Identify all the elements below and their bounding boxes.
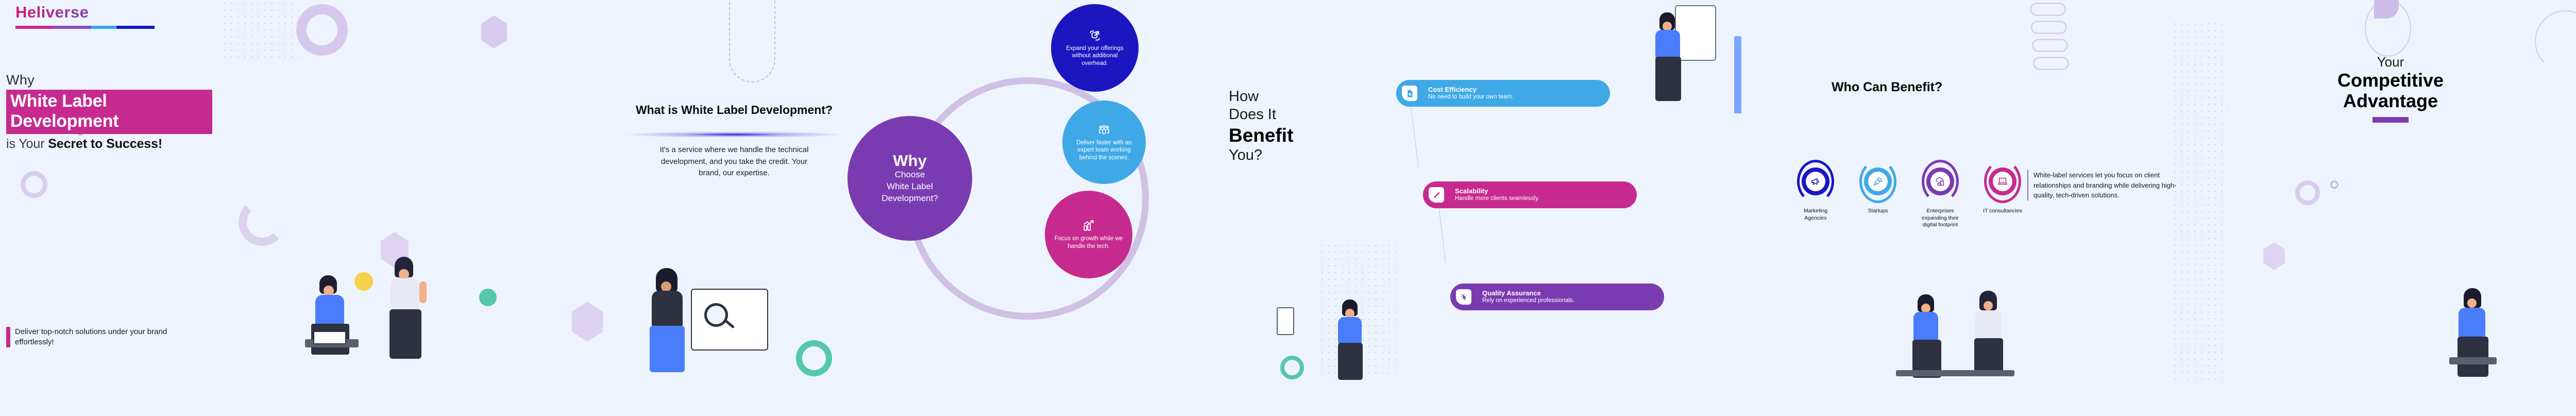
accent-bar: [6, 327, 10, 347]
brand-rule: [15, 26, 155, 29]
dot-grid-decor: [2172, 21, 2228, 381]
definition-title: What is White Label Development?: [636, 103, 833, 117]
audience-item-marketing-agencies[interactable]: Marketing Agencies: [1793, 160, 1838, 229]
headline-line-1: Competitive: [2246, 70, 2535, 91]
pill-decor: [2033, 57, 2069, 70]
expand-arrow-icon: [1088, 29, 1101, 42]
hexagon-decor: [479, 15, 509, 48]
benefit-bubble-expand[interactable]: Expand your offerings without additional…: [1051, 4, 1139, 92]
pill-badge: [1396, 80, 1423, 107]
pill-sub: Rely on experienced professionals.: [1482, 297, 1574, 304]
brand-wordmark: Heliverse: [15, 3, 155, 22]
intro-footnote: Deliver top-notch solutions under your b…: [6, 327, 176, 347]
who-benefit-note-text: White-label services let you focus on cl…: [2033, 170, 2192, 201]
accent-bar: [2027, 170, 2028, 201]
pill-badge: [1450, 284, 1477, 310]
illustration-card: [1277, 307, 1294, 335]
dashed-shape-decor: [729, 0, 775, 82]
who-benefit-list: Marketing Agencies Startups: [1793, 160, 2025, 229]
headline-line-2: Does It: [1229, 106, 1383, 124]
bubble-text: Focus on growth while we handle the tech…: [1053, 235, 1124, 250]
pill-text: Quality Assurance Rely on experienced pr…: [1482, 290, 1574, 304]
pencil-icon: [1734, 36, 1741, 113]
brush-icon: [1432, 191, 1441, 199]
magnifier-icon: [704, 303, 728, 327]
connector-line: [1411, 106, 1419, 167]
intro-tail: is Your Secret to Success!: [6, 137, 212, 152]
pill-text: Cost Efficiency No need to build your ow…: [1428, 86, 1514, 101]
ring-decor-small: [2295, 180, 2320, 205]
panel-competitive-advantage: Your Competitive Advantage: [2246, 0, 2535, 416]
cursor-click-icon: [1460, 293, 1468, 302]
pill-decor: [2032, 39, 2068, 52]
pill-title: Scalability: [1455, 188, 1539, 195]
benefit-pill-cost-efficiency[interactable]: Cost Efficiency No need to build your ow…: [1396, 80, 1610, 107]
intro-tail-light: is Your: [6, 137, 44, 151]
bubble-text: Deliver faster with an expert team worki…: [1071, 139, 1138, 161]
benefit-bubble-faster[interactable]: Deliver faster with an expert team worki…: [1062, 101, 1146, 184]
intro-tail-bold: Secret to Success!: [48, 137, 162, 151]
pill-sub: No need to build your own team.: [1428, 94, 1514, 101]
intro-footnote-text: Deliver top-notch solutions under your b…: [15, 327, 176, 347]
ring-decor: [2365, 0, 2411, 57]
dot-decor: [706, 312, 714, 320]
audience-label: IT consultancies: [1983, 208, 2022, 215]
teal-dot-decor: [479, 289, 497, 306]
audience-item-it-consultancies[interactable]: IT consultancies: [1980, 160, 2025, 229]
ring-decor-small: [21, 171, 47, 198]
audience-item-enterprises[interactable]: Enterprises expanding their digital foot…: [1918, 160, 1963, 229]
headline-line-3: Benefit: [1229, 124, 1383, 147]
intro-eyebrow: Why: [6, 72, 212, 88]
headline-underline: [2372, 117, 2409, 123]
pill-title: Quality Assurance: [1482, 290, 1574, 297]
ring-decor: [296, 4, 348, 56]
who-benefit-note: White-label services let you focus on cl…: [2027, 170, 2192, 201]
dot-grid-decor: [222, 0, 299, 62]
headline-line-2: Advantage: [2246, 91, 2535, 111]
title-glow-decor: [623, 131, 845, 138]
panel-why-choose: Why Choose White Label Development? Expa…: [845, 0, 1216, 416]
benefit-bubble-growth[interactable]: Focus on growth while we handle the tech…: [1045, 191, 1132, 278]
why-choose-core: Why Choose White Label Development?: [848, 116, 972, 241]
how-benefit-headline: How Does It Benefit You?: [1229, 88, 1383, 165]
pill-badge: [1423, 181, 1450, 208]
definition-body: It's a service where we handle the techn…: [649, 144, 819, 179]
pill-sub: Handle more clients seamlessly.: [1455, 195, 1539, 202]
growth-chart-icon: [1082, 219, 1095, 232]
connector-line: [1438, 206, 1446, 262]
competitive-headline: Your Competitive Advantage: [2246, 54, 2535, 123]
pill-title: Cost Efficiency: [1428, 86, 1514, 94]
benefit-pill-quality-assurance[interactable]: Quality Assurance Rely on experienced pr…: [1450, 284, 1664, 310]
benefit-pill-scalability[interactable]: Scalability Handle more clients seamless…: [1423, 181, 1637, 208]
panel-who-can-benefit: Who Can Benefit? Marketing Agencies: [1638, 0, 2246, 416]
infographic-canvas: Heliverse Why White Label Development is…: [0, 0, 2576, 416]
pill-text: Scalability Handle more clients seamless…: [1455, 188, 1539, 202]
success-story-title: A Success Story: [2535, 4, 2576, 20]
illustration-search-panel: [691, 289, 768, 351]
audience-label: Enterprises expanding their digital foot…: [1918, 208, 1963, 229]
headline-line-4: You?: [1229, 146, 1383, 164]
intro-highlight: White Label Development: [6, 90, 212, 134]
panel-how-benefit: How Does It Benefit You? Cost Efficiency…: [1216, 0, 1638, 416]
pill-decor: [2031, 21, 2067, 34]
audience-label: Marketing Agencies: [1793, 208, 1838, 222]
arc-decor: [239, 198, 286, 246]
lightbulb-icon: [354, 272, 373, 291]
headline-eyebrow: Your: [2246, 54, 2535, 70]
audience-label: Startups: [1868, 208, 1888, 215]
tiny-ring-decor: [2330, 180, 2338, 189]
audience-item-startups[interactable]: Startups: [1855, 160, 1901, 229]
who-benefit-title: Who Can Benefit?: [1832, 80, 1942, 95]
panel-success-story: A Success Story We helped [Client Name] …: [2535, 0, 2576, 416]
panel-intro: Heliverse Why White Label Development is…: [0, 0, 554, 416]
headline-line-1: How: [1229, 88, 1383, 106]
magnifier-handle-icon: [724, 320, 735, 329]
logo-top-left: Heliverse: [15, 3, 155, 29]
core-line4: Development?: [882, 193, 938, 204]
bubble-text: Expand your offerings without additional…: [1059, 45, 1130, 67]
hexagon-decor: [569, 302, 605, 342]
intro-headline: Why White Label Development is Your Secr…: [6, 72, 212, 152]
teal-ring-decor: [796, 340, 832, 376]
document-search-icon: [1405, 89, 1414, 98]
team-icon: [1097, 123, 1111, 137]
core-line3: White Label: [887, 181, 933, 192]
core-word: Why: [893, 153, 926, 169]
hexagon-decor: [2262, 242, 2286, 270]
teal-ring-decor: [1280, 356, 1304, 379]
pill-decor: [2030, 3, 2066, 16]
core-line2: Choose: [895, 170, 925, 180]
quarter-circle-decor: [2374, 0, 2399, 19]
